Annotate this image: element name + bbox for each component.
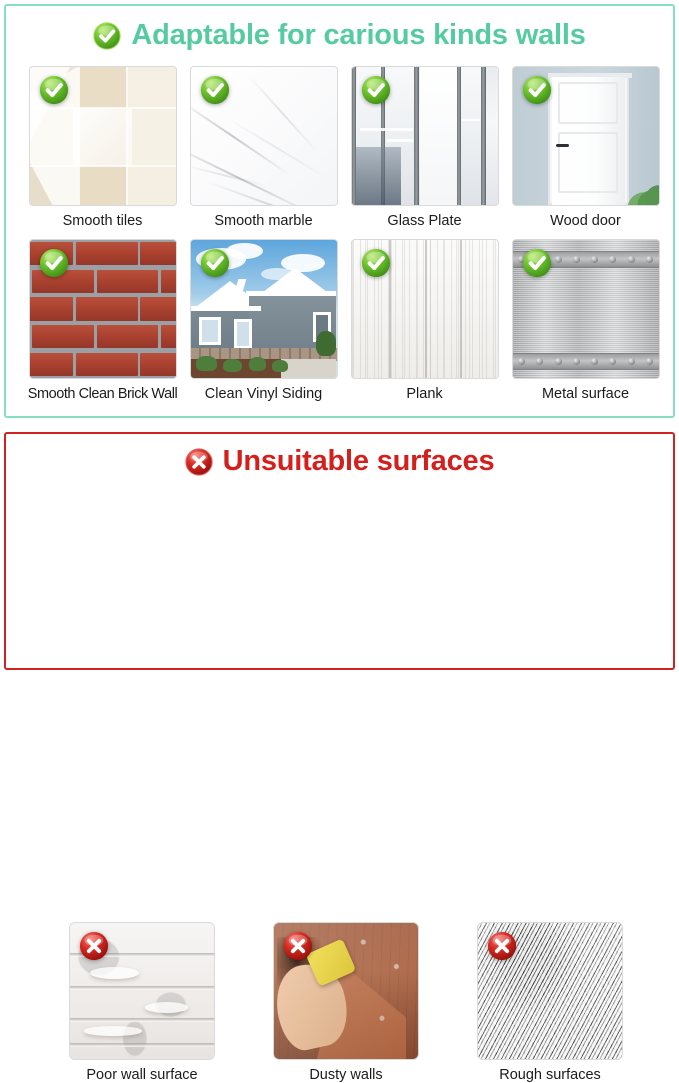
surface-label: Dusty walls [309, 1067, 382, 1083]
green-check-badge-icon [39, 248, 69, 278]
surface-thumbnail [351, 239, 499, 379]
surface-thumbnail [273, 922, 419, 1060]
surface-thumbnail [190, 239, 338, 379]
surface-thumbnail [477, 922, 623, 1060]
green-check-badge-icon [200, 75, 230, 105]
surface-card-rough-surfaces: Rough surfaces [448, 922, 652, 1083]
green-check-badge-icon [522, 75, 552, 105]
surface-card-brick-wall: Smooth Clean Brick Wall [22, 239, 183, 402]
surface-card-smooth-tiles: Smooth tiles [22, 66, 183, 229]
unsuitable-grid: Poor wall surface [40, 922, 652, 1083]
surface-card-plank: Plank [344, 239, 505, 402]
green-check-badge-icon [200, 248, 230, 278]
green-check-badge-icon [39, 75, 69, 105]
surface-label: Smooth Clean Brick Wall [28, 386, 177, 402]
surface-thumbnail [69, 922, 215, 1060]
surface-thumbnail [29, 239, 177, 379]
surface-label: Rough surfaces [499, 1067, 601, 1083]
green-check-circle-icon [93, 22, 121, 50]
surface-label: Metal surface [542, 386, 629, 402]
surface-thumbnail [351, 66, 499, 206]
infographic-page: Adaptable for carious kinds walls [0, 0, 679, 674]
red-x-badge-icon [487, 931, 517, 961]
suitable-surfaces-panel: Adaptable for carious kinds walls [4, 4, 675, 418]
surface-label: Clean Vinyl Siding [205, 386, 322, 402]
surface-thumbnail [190, 66, 338, 206]
surface-label: Smooth marble [214, 213, 312, 229]
surface-card-metal-surface: Metal surface [505, 239, 666, 402]
red-x-circle-icon [185, 448, 213, 476]
surface-thumbnail [512, 66, 660, 206]
suitable-grid-row-1: Smooth tiles [22, 66, 667, 229]
surface-card-glass-plate: Glass Plate [344, 66, 505, 229]
surface-card-smooth-marble: Smooth marble [183, 66, 344, 229]
unsuitable-heading-text: Unsuitable surfaces [223, 445, 495, 478]
surface-thumbnail [29, 66, 177, 206]
green-check-badge-icon [522, 248, 552, 278]
surface-label: Glass Plate [387, 213, 461, 229]
surface-card-vinyl-siding: Clean Vinyl Siding [183, 239, 344, 402]
red-x-badge-icon [283, 931, 313, 961]
surface-label: Plank [406, 386, 442, 402]
green-check-badge-icon [361, 248, 391, 278]
unsuitable-surfaces-panel: Unsuitable surfaces [4, 432, 675, 670]
surface-thumbnail [512, 239, 660, 379]
suitable-heading: Adaptable for carious kinds walls [6, 19, 673, 52]
surface-label: Wood door [550, 213, 621, 229]
red-x-badge-icon [79, 931, 109, 961]
surface-card-wood-door: Wood door [505, 66, 666, 229]
surface-card-poor-wall-surface: Poor wall surface [40, 922, 244, 1083]
surface-card-dusty-walls: Dusty walls [244, 922, 448, 1083]
suitable-heading-text: Adaptable for carious kinds walls [131, 19, 585, 52]
surface-label: Poor wall surface [86, 1067, 197, 1083]
surface-label: Smooth tiles [63, 213, 143, 229]
green-check-badge-icon [361, 75, 391, 105]
suitable-grid-row-2: Smooth Clean Brick Wall [22, 239, 667, 402]
unsuitable-heading: Unsuitable surfaces [6, 445, 673, 478]
